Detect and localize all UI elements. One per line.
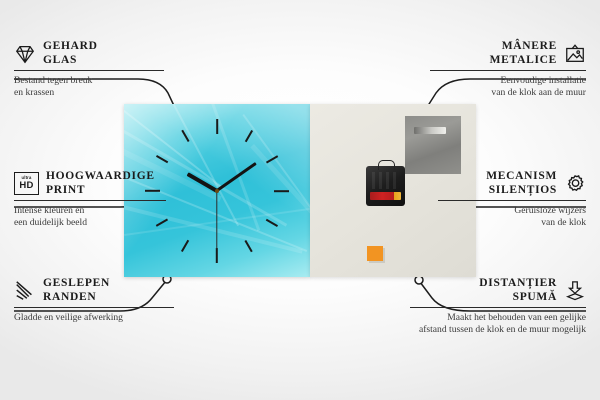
feature-divider bbox=[430, 70, 586, 71]
feature-manere-metalice: MÂNERE METALICE Eenvoudige installatie v… bbox=[430, 40, 586, 98]
feature-body-line: Bestand tegen breuk bbox=[14, 75, 164, 87]
clock-second-hand bbox=[216, 191, 217, 249]
hanger-slot bbox=[414, 127, 446, 134]
feature-mecanism-silentios: MECANISM SILENȚIOS Geruisloze wijzers va… bbox=[438, 170, 586, 228]
feature-body-line: en krassen bbox=[14, 87, 164, 99]
feature-title-line: MECANISM bbox=[486, 170, 557, 184]
feature-body-line: een duidelijk beeld bbox=[14, 217, 166, 229]
feature-divider bbox=[438, 200, 586, 201]
foam-spacer bbox=[367, 246, 383, 261]
feature-body-line: afstand tussen de klok en de muur mogeli… bbox=[410, 324, 586, 336]
quartz-mechanism bbox=[366, 166, 405, 206]
ultra-hd-icon: ultra HD bbox=[14, 172, 39, 195]
feature-body-line: van de klok bbox=[438, 217, 586, 229]
feature-divider bbox=[14, 70, 164, 71]
clock-center-hub bbox=[215, 189, 219, 193]
feature-title-line: GLAS bbox=[43, 54, 98, 68]
feature-body-line: Gladde en veilige afwerking bbox=[14, 312, 174, 324]
feature-divider bbox=[14, 200, 166, 201]
feature-title-line: GEHARD bbox=[43, 40, 98, 54]
feature-distantier-spuma: DISTANȚIER SPUMĂ Maakt het behouden van … bbox=[410, 277, 586, 335]
feature-divider bbox=[14, 307, 174, 308]
feature-body-line: Geruisloze wijzers bbox=[438, 205, 586, 217]
feature-title-line: METALICE bbox=[490, 54, 557, 68]
feature-title-line: DISTANȚIER bbox=[479, 277, 557, 291]
feature-title-line: SILENȚIOS bbox=[486, 184, 557, 198]
feature-title-line: PRINT bbox=[46, 184, 155, 198]
feature-title-line: RANDEN bbox=[43, 291, 110, 305]
gear-icon bbox=[564, 173, 586, 195]
battery bbox=[370, 192, 401, 200]
metal-hanger-plate bbox=[405, 116, 461, 174]
feature-geslepen-randen: GESLEPEN RANDEN Gladde en veilige afwerk… bbox=[14, 277, 174, 324]
feature-title-line: HOOGWAARDIGE bbox=[46, 170, 155, 184]
infographic-canvas: GEHARD GLAS Bestand tegen breuk en krass… bbox=[0, 0, 600, 400]
feature-title-line: SPUMĂ bbox=[479, 291, 557, 305]
feature-title-line: MÂNERE bbox=[490, 40, 557, 54]
clock-minute-hand bbox=[216, 162, 257, 192]
feature-body-line: Intense kleuren en bbox=[14, 205, 166, 217]
mechanism-hanger-loop bbox=[378, 160, 395, 170]
feature-body-line: van de klok aan de muur bbox=[430, 87, 586, 99]
diagonal-lines-icon bbox=[14, 280, 36, 302]
feature-body-line: Eenvoudige installatie bbox=[430, 75, 586, 87]
feature-gehard-glas: GEHARD GLAS Bestand tegen breuk en krass… bbox=[14, 40, 164, 98]
ultra-hd-main-label: HD bbox=[19, 181, 33, 191]
feature-divider bbox=[410, 307, 586, 308]
clock-hour-hand bbox=[187, 172, 218, 192]
feature-body-line: Maakt het behouden van een gelijke bbox=[410, 312, 586, 324]
feature-hoogwaardige-print: ultra HD HOOGWAARDIGE PRINT Intense kleu… bbox=[14, 170, 166, 228]
feature-title-line: GESLEPEN bbox=[43, 277, 110, 291]
arrow-down-layer-icon bbox=[564, 280, 586, 302]
diamond-icon bbox=[14, 43, 36, 65]
mechanism-detail bbox=[372, 172, 398, 189]
picture-frame-icon bbox=[564, 43, 586, 65]
